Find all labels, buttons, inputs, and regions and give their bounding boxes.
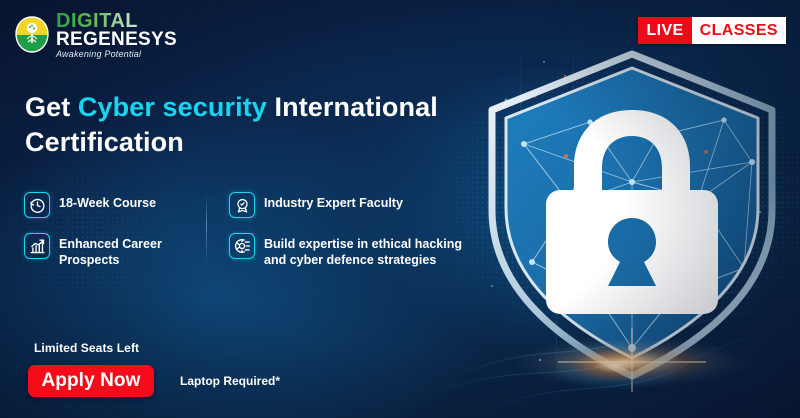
feature-list: 18-Week Course Enhanced Career Prospects <box>24 192 484 269</box>
bar-chart-growth-icon <box>24 233 50 259</box>
badge-classes-label: CLASSES <box>692 17 786 44</box>
feature-label: 18-Week Course <box>59 192 156 212</box>
headline-accent: Cyber security <box>78 92 267 122</box>
gear-circuit-icon <box>229 233 255 259</box>
feature-item-course-duration: 18-Week Course <box>24 192 206 218</box>
feature-item-ethical-hacking: Build expertise in ethical hacking and c… <box>229 233 467 269</box>
award-medal-icon <box>229 192 255 218</box>
badge-live-label: LIVE <box>638 17 691 44</box>
laptop-required-note: Laptop Required* <box>180 374 280 388</box>
tree-badge-icon <box>14 16 50 54</box>
apply-now-button[interactable]: Apply Now <box>28 365 154 397</box>
headline-part1: Get <box>25 92 78 122</box>
logo-tagline: Awakening Potential <box>56 50 177 59</box>
feature-label: Build expertise in ethical hacking and c… <box>264 233 467 269</box>
feature-column-right: Industry Expert Faculty <box>207 192 467 269</box>
feature-column-left: 18-Week Course Enhanced Career Prospects <box>24 192 206 269</box>
live-classes-badge: LIVE CLASSES <box>638 17 786 44</box>
logo-text-regenesys: REGENESYS <box>56 30 177 49</box>
feature-label: Enhanced Career Prospects <box>59 233 206 269</box>
feature-item-career-prospects: Enhanced Career Prospects <box>24 233 206 269</box>
logo-text-digital: DIGITAL <box>56 11 177 31</box>
brand-logo[interactable]: DIGITAL REGENESYS Awakening Potential <box>14 10 177 59</box>
limited-seats-text: Limited Seats Left <box>34 341 139 355</box>
feature-item-expert-faculty: Industry Expert Faculty <box>229 192 467 218</box>
clock-icon <box>24 192 50 218</box>
cybersecurity-promo-banner: DIGITAL REGENESYS Awakening Potential LI… <box>0 0 800 418</box>
page-title: Get Cyber security International Certifi… <box>25 90 495 159</box>
feature-label: Industry Expert Faculty <box>264 192 403 212</box>
